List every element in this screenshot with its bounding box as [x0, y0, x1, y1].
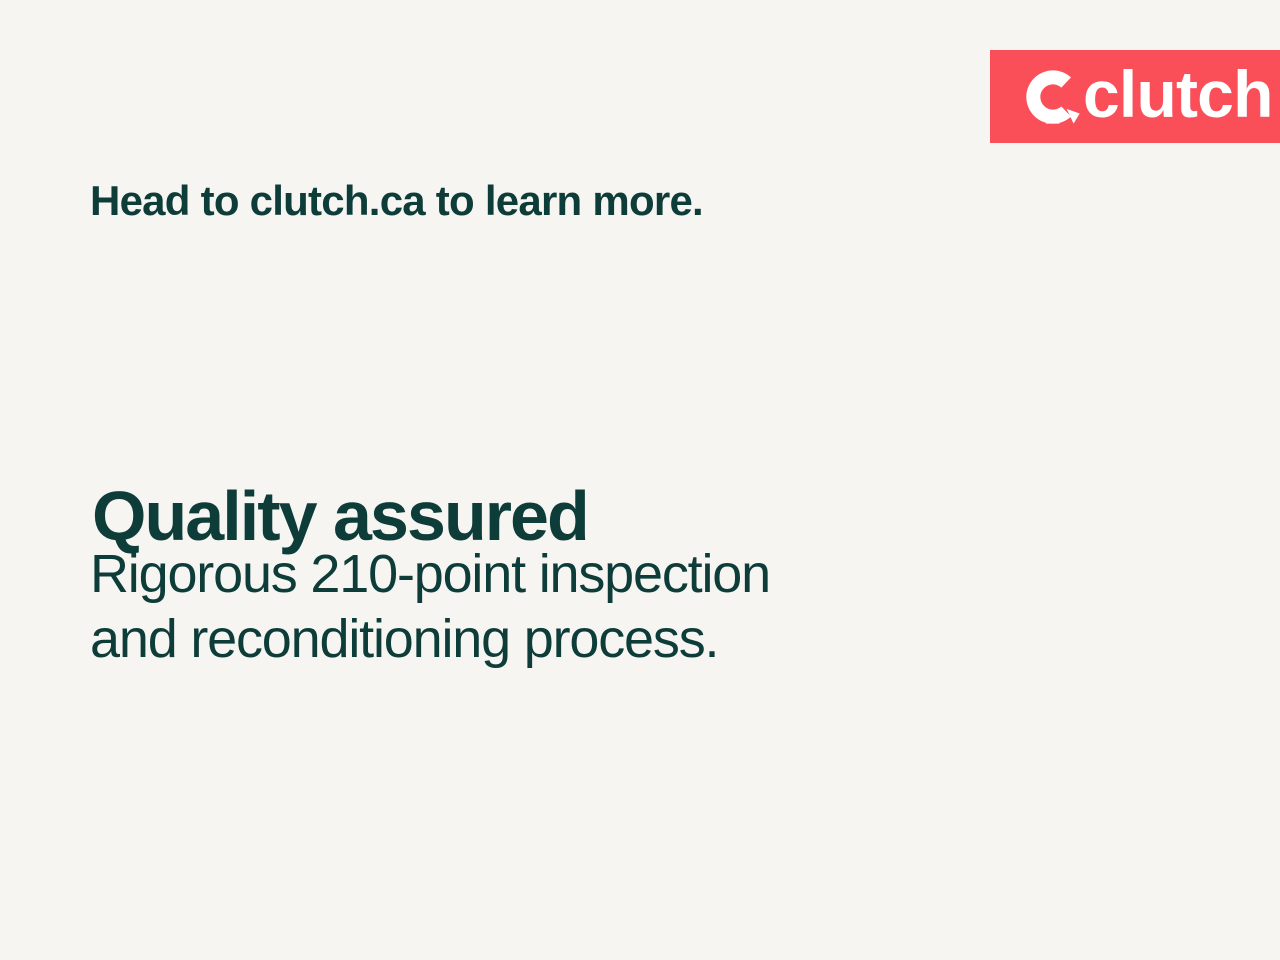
clutch-wordmark-text: clutch — [1083, 61, 1273, 127]
slide-canvas: clutch Head to clutch.ca to learn more. … — [0, 0, 1280, 960]
clutch-wordmark: clutch — [1024, 66, 1273, 128]
subcopy-block: Rigorous 210-point inspection and recond… — [90, 542, 770, 672]
clutch-logo-block[interactable]: clutch — [990, 50, 1280, 143]
subcopy-line-1: Rigorous 210-point inspection — [90, 542, 770, 607]
clutch-c-wheel-icon — [1024, 68, 1082, 126]
subcopy-line-2: and reconditioning process. — [90, 607, 770, 672]
tagline-text: Head to clutch.ca to learn more. — [90, 177, 703, 224]
